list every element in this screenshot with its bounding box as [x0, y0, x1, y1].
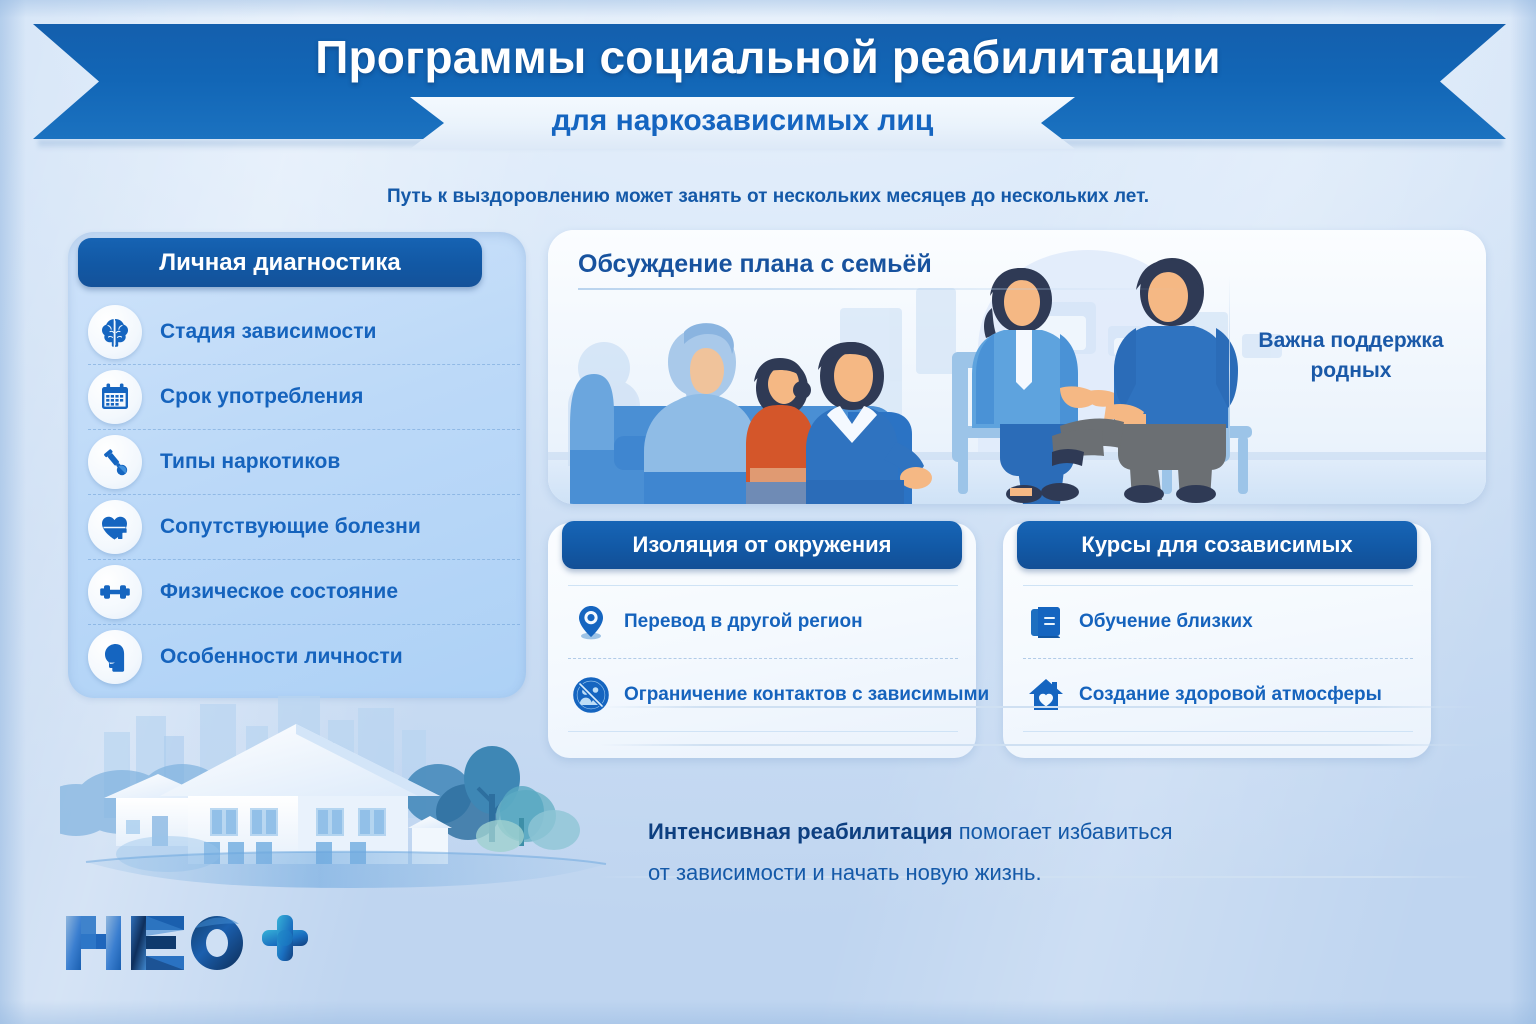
edge-vignette-top — [0, 0, 1536, 18]
list-item-label: Создание здоровой атмосферы — [1079, 684, 1382, 706]
head-profile-icon — [88, 630, 142, 684]
card-divider — [1229, 276, 1231, 462]
dumbbell-icon — [88, 565, 142, 619]
diagnostics-heading: Личная диагностика — [78, 238, 482, 287]
edge-vignette-left — [0, 0, 26, 1024]
list-item-label: Стадия зависимости — [160, 320, 376, 344]
list-item-label: Физическое состояние — [160, 580, 398, 604]
list-item-label: Типы наркотиков — [160, 450, 340, 474]
book-icon — [1023, 599, 1069, 645]
list-item-label: Сопутствующие болезни — [160, 515, 421, 539]
list-item[interactable]: Срок употребления — [88, 365, 520, 430]
isolation-card-heading-label: Изоляция от окружения — [633, 532, 892, 558]
support-note: Важна поддержка родных — [1240, 326, 1462, 387]
list-item-label: Срок употребления — [160, 385, 363, 409]
infographic-canvas: Программы социальной реабилитации для на… — [0, 0, 1536, 1024]
diagnostics-heading-label: Личная диагностика — [159, 249, 400, 277]
page-subtitle: для наркозависимых лиц — [410, 104, 1075, 138]
neighborhood-illustration — [60, 690, 660, 890]
brand-logo — [62, 912, 312, 974]
closing-line-2: от зависимости и начать новую жизнь. — [648, 853, 1348, 894]
calendar-icon — [88, 370, 142, 424]
house-heart-icon — [1023, 672, 1069, 718]
syringe-pills-icon — [88, 435, 142, 489]
codependent-courses-heading-label: Курсы для созависимых — [1081, 532, 1352, 558]
codependent-courses-heading: Курсы для созависимых — [1017, 521, 1417, 569]
diagnostics-list: Стадия зависимости Срок у — [88, 300, 520, 689]
heart-cross-icon — [88, 500, 142, 554]
list-item-label: Особенности личности — [160, 645, 403, 669]
edge-vignette-right — [1510, 0, 1536, 1024]
lead-text: Путь к выздоровлению может занять от нес… — [0, 186, 1536, 208]
list-item[interactable]: Физическое состояние — [88, 560, 520, 625]
closing-rest: помогает избавиться — [953, 819, 1173, 844]
list-item[interactable]: Обучение близких — [1023, 585, 1413, 659]
list-item-label: Ограничение контактов с зависимыми — [624, 684, 989, 706]
codependent-courses-card: Курсы для созависимых Обучение близких — [1003, 523, 1431, 758]
family-discussion-title: Обсуждение плана с семьёй — [578, 250, 932, 279]
edge-vignette-bottom — [0, 1000, 1536, 1024]
brain-icon — [88, 305, 142, 359]
map-pin-icon — [568, 599, 614, 645]
closing-line-1: Интенсивная реабилитация помогает избави… — [648, 812, 1348, 853]
list-item-label: Обучение близких — [1079, 611, 1253, 633]
closing-strong: Интенсивная реабилитация — [648, 819, 953, 844]
page-title: Программы социальной реабилитации — [0, 30, 1536, 84]
list-item[interactable]: Типы наркотиков — [88, 430, 520, 495]
list-item[interactable]: Стадия зависимости — [88, 300, 520, 365]
list-item[interactable]: Создание здоровой атмосферы — [1023, 659, 1413, 732]
codependent-courses-list: Обучение близких Создание здоровой атмос… — [1023, 585, 1413, 732]
title-underline — [578, 288, 1188, 290]
list-item-label: Перевод в другой регион — [624, 611, 863, 633]
isolation-card-heading: Изоляция от окружения — [562, 521, 962, 569]
closing-statement: Интенсивная реабилитация помогает избави… — [648, 812, 1348, 893]
family-discussion-card: Обсуждение плана с семьёй Важна поддержк… — [548, 230, 1486, 504]
list-item[interactable]: Особенности личности — [88, 625, 520, 689]
list-item[interactable]: Перевод в другой регион — [568, 585, 958, 659]
list-item[interactable]: Сопутствующие болезни — [88, 495, 520, 560]
